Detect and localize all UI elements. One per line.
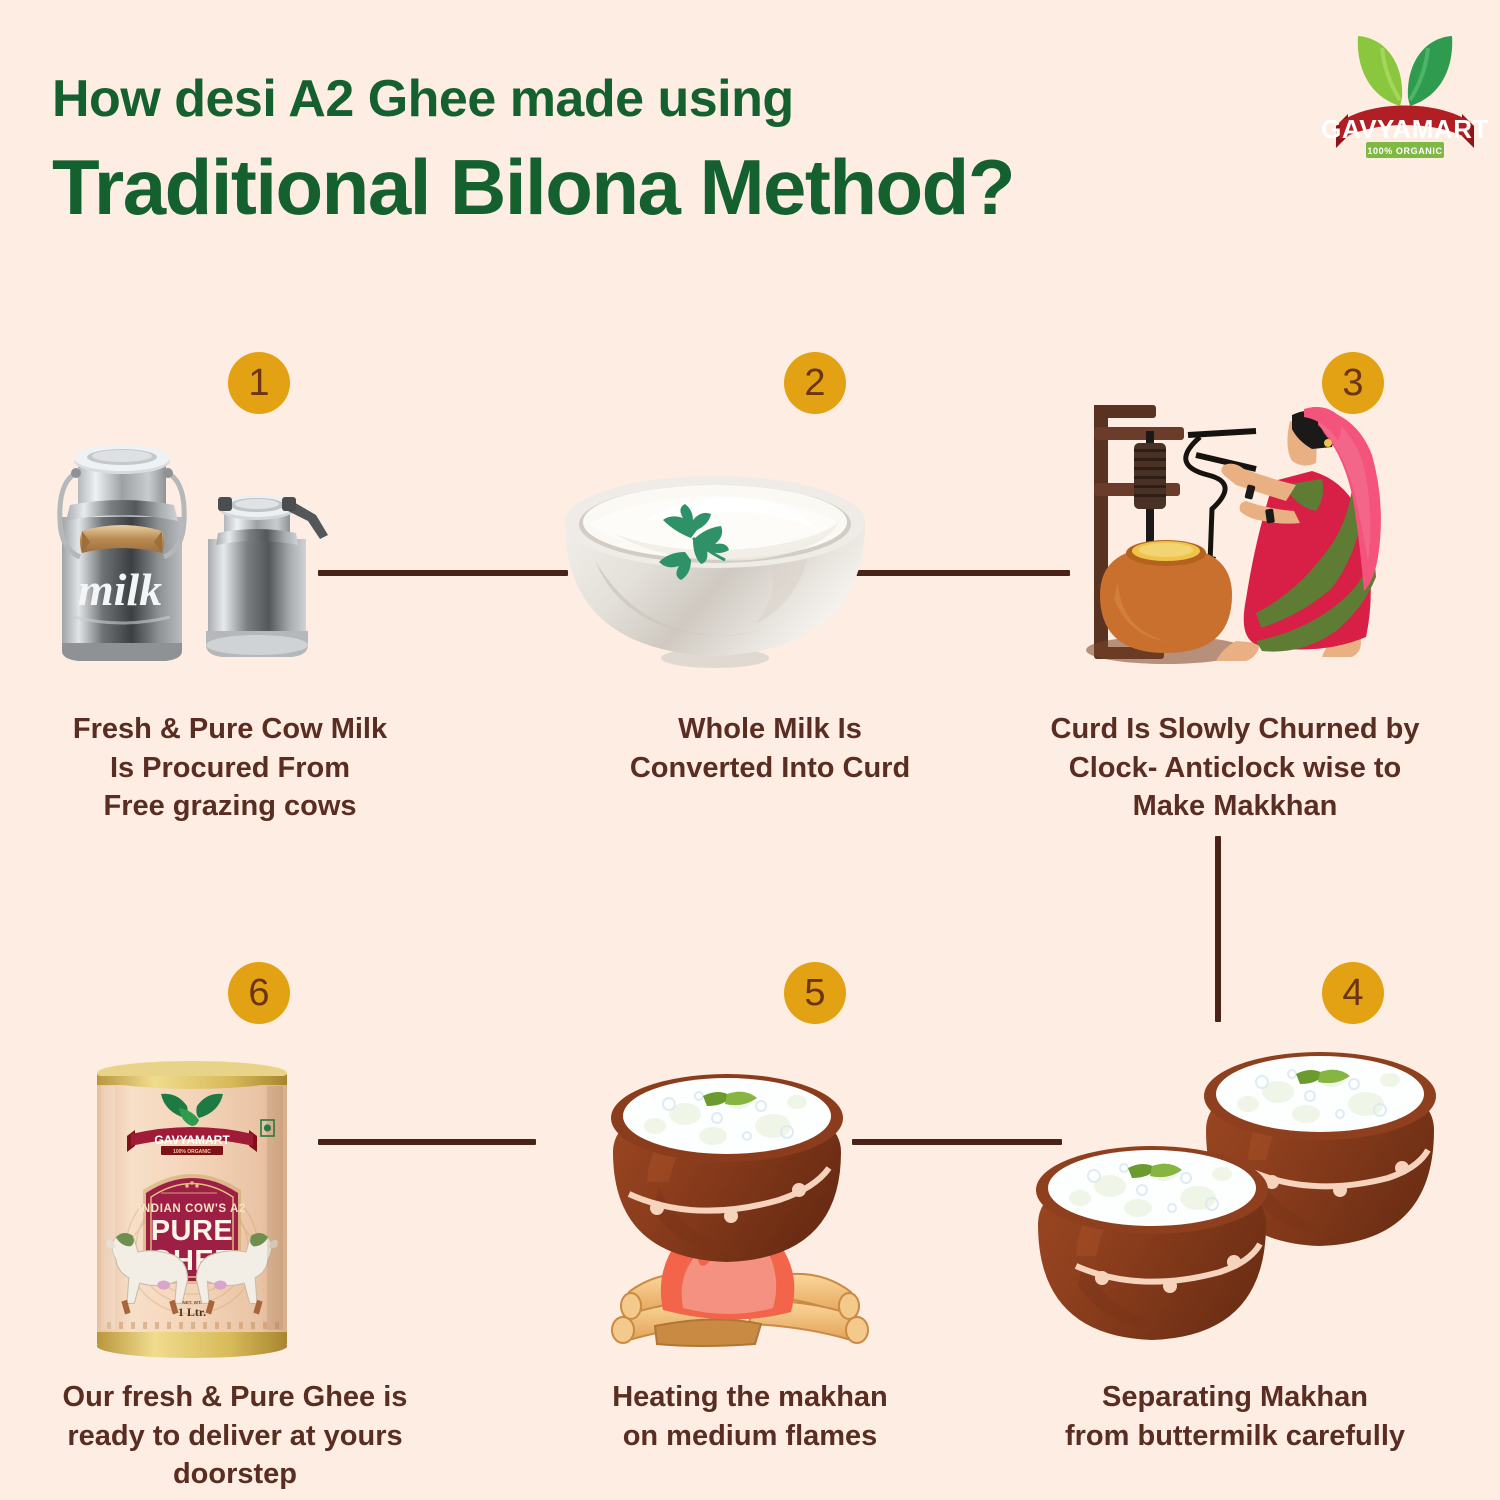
connector-step5-step6 — [318, 1139, 536, 1145]
connector-step3-step4 — [1215, 836, 1221, 1022]
connector-step2-step3 — [855, 570, 1070, 576]
woman-churning-icon — [1060, 385, 1440, 680]
title-line-1: How desi A2 Ghee made using — [52, 72, 1014, 127]
gavyamart-logo: GAVYAMART 100% ORGANIC — [1322, 14, 1488, 174]
svg-text:1 Ltr.: 1 Ltr. — [178, 1305, 206, 1319]
svg-text:100% ORGANIC: 100% ORGANIC — [1367, 146, 1442, 156]
pot-on-fire-icon — [585, 1030, 895, 1355]
svg-text:INDIAN COW'S A2: INDIAN COW'S A2 — [138, 1203, 246, 1215]
svg-text:milk: milk — [78, 564, 162, 615]
step-caption-5: Heating the makhanon medium flames — [545, 1378, 955, 1455]
two-clay-pots-icon — [1010, 1030, 1480, 1365]
step-badge-2: 2 — [784, 352, 846, 414]
svg-text:PURE: PURE — [151, 1215, 234, 1247]
milk-can-icon: milk — [40, 405, 360, 680]
curd-bowl-icon — [555, 460, 875, 685]
svg-text:GAVYAMART: GAVYAMART — [154, 1133, 230, 1147]
step-badge-6: 6 — [228, 962, 290, 1024]
step-caption-4: Separating Makhanfrom buttermilk careful… — [990, 1378, 1480, 1455]
step-caption-3: Curd Is Slowly Churned byClock- Anticloc… — [995, 710, 1475, 826]
svg-text:100% ORGANIC: 100% ORGANIC — [173, 1149, 211, 1155]
step-badge-5: 5 — [784, 962, 846, 1024]
infographic-canvas: How desi A2 Ghee made using Traditional … — [0, 0, 1500, 1500]
step-badge-4: 4 — [1322, 962, 1384, 1024]
page-title: How desi A2 Ghee made using Traditional … — [52, 72, 1014, 228]
title-line-2: Traditional Bilona Method? — [52, 147, 1014, 229]
svg-text:GAVYAMART: GAVYAMART — [1322, 114, 1488, 144]
ghee-tin-icon: GAVYAMART 100% ORGANIC INDIAN COW'S A2 P… — [85, 1060, 300, 1365]
step-caption-2: Whole Milk IsConverted Into Curd — [580, 710, 960, 787]
step-caption-6: Our fresh & Pure Ghee isready to deliver… — [10, 1378, 460, 1494]
step-caption-1: Fresh & Pure Cow MilkIs Procured FromFre… — [10, 710, 450, 826]
